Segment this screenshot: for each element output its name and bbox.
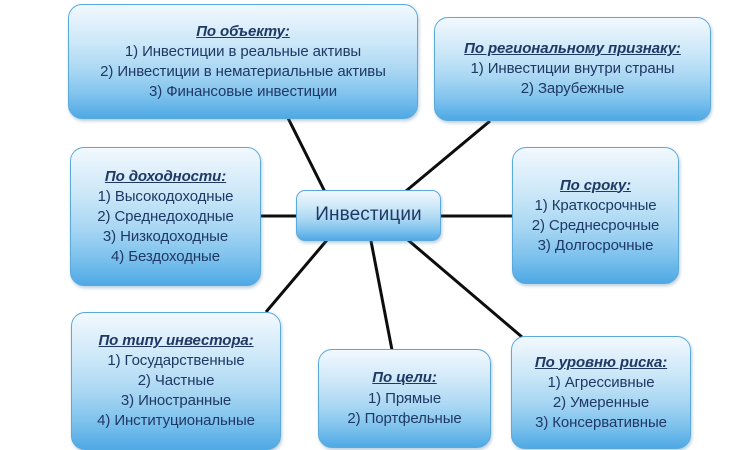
center-node-label: Инвестиции [315, 205, 422, 226]
branch-item: 2) Среднесрочные [532, 216, 660, 236]
branch-title-investor-type: По типу инвестора: [98, 331, 253, 350]
edge-center-to-regional [406, 121, 490, 191]
branch-item: 1) Государственные [107, 351, 244, 371]
branch-item: 2) Умеренные [553, 393, 649, 413]
branch-node-object[interactable]: По объекту: 1) Инвестиции в реальные акт… [68, 4, 418, 119]
branch-title-object: По объекту: [196, 22, 290, 41]
branch-item: 3) Долгосрочные [538, 236, 654, 256]
branch-item: 3) Консервативные [535, 413, 667, 433]
branch-item: 1) Агрессивные [547, 373, 654, 393]
branch-title-profitability: По доходности: [105, 167, 226, 186]
edge-center-to-object [288, 118, 325, 192]
branch-title-risk-level: По уровню риска: [535, 353, 667, 372]
branch-title-goal: По цели: [372, 368, 436, 387]
branch-item: 2) Частные [138, 371, 215, 391]
branch-title-term: По сроку: [560, 176, 631, 195]
branch-item: 4) Институциональные [97, 411, 255, 431]
edge-center-to-goal [371, 241, 392, 350]
branch-node-regional[interactable]: По региональному признаку: 1) Инвестиции… [434, 17, 711, 121]
branch-item: 1) Прямые [368, 389, 441, 409]
center-node[interactable]: Инвестиции [296, 190, 441, 241]
branch-item: 1) Высокодоходные [98, 187, 234, 207]
branch-item: 2) Инвестиции в нематериальные активы [100, 62, 386, 82]
branch-item: 2) Портфельные [347, 409, 461, 429]
branch-node-profitability[interactable]: По доходности: 1) Высокодоходные 2) Сред… [70, 147, 261, 286]
branch-node-goal[interactable]: По цели: 1) Прямые 2) Портфельные [318, 349, 491, 448]
branch-node-term[interactable]: По сроку: 1) Краткосрочные 2) Среднесроч… [512, 147, 679, 284]
branch-item: 2) Среднедоходные [97, 207, 233, 227]
branch-item: 2) Зарубежные [521, 79, 625, 99]
branch-item: 1) Краткосрочные [534, 196, 656, 216]
edge-center-to-investor-type [266, 240, 327, 312]
branch-item: 4) Бездоходные [111, 247, 220, 267]
branch-item: 1) Инвестиции в реальные активы [125, 42, 361, 62]
branch-item: 1) Инвестиции внутри страны [471, 59, 675, 79]
branch-node-risk-level[interactable]: По уровню риска: 1) Агрессивные 2) Умере… [511, 336, 691, 449]
branch-item: 3) Низкодоходные [103, 227, 228, 247]
edge-center-to-risk-level [408, 240, 522, 337]
branch-title-regional: По региональному признаку: [464, 39, 681, 58]
diagram-canvas: По объекту: 1) Инвестиции в реальные акт… [0, 0, 750, 450]
branch-item: 3) Финансовые инвестиции [149, 82, 337, 102]
branch-item: 3) Иностранные [121, 391, 231, 411]
branch-node-investor-type[interactable]: По типу инвестора: 1) Государственные 2)… [71, 312, 281, 450]
